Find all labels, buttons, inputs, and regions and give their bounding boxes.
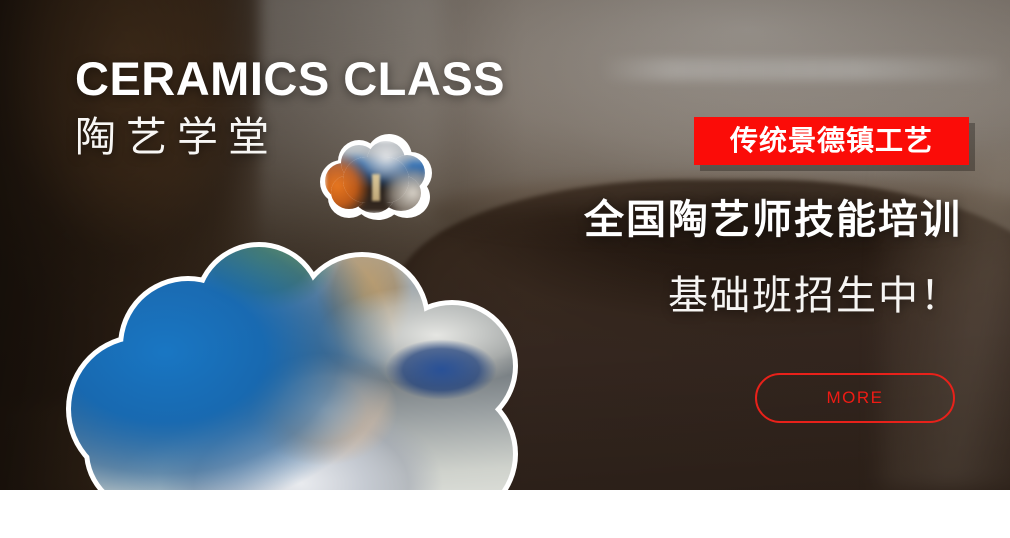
cloud-thumbnail-small xyxy=(318,134,434,220)
promo-line-2: 基础班招生中！ xyxy=(668,276,962,316)
bottom-white-band xyxy=(0,490,1010,538)
tradition-badge: 传统景德镇工艺 xyxy=(694,117,969,165)
cloud-large-photo-content xyxy=(66,238,518,524)
headline-chinese: 陶艺学堂 xyxy=(75,117,279,158)
more-button[interactable]: MORE xyxy=(755,373,955,423)
cloud-small-photo xyxy=(325,141,427,213)
tradition-badge-label: 传统景德镇工艺 xyxy=(730,127,933,155)
ceramics-class-banner: CERAMICS CLASS 陶艺学堂 xyxy=(0,0,1010,538)
promo-line-1: 全国陶艺师技能培训 xyxy=(584,200,962,240)
cloud-photo-large xyxy=(66,238,518,524)
headline-english: CERAMICS CLASS xyxy=(75,55,505,102)
more-button-label: MORE xyxy=(827,388,884,408)
